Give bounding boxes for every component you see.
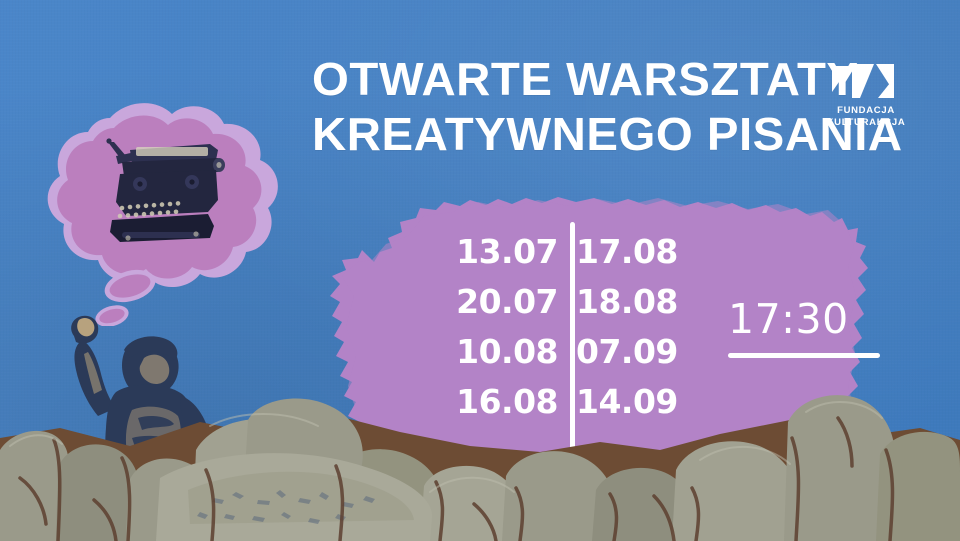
date-item: 13.07 — [430, 228, 558, 276]
sculptor-and-rocks-illustration — [0, 300, 960, 541]
logo-text-line-2: KULTURAKCJA — [826, 117, 906, 129]
kulturakcja-logo-mark-icon — [830, 58, 902, 98]
vintage-typewriter-icon — [106, 138, 225, 242]
poster-headline: OTWARTE WARSZTATY KREATYWNEGO PISANIA — [312, 52, 903, 162]
date-item: 17.08 — [576, 228, 686, 276]
logo-text-line-1: FUNDACJA — [826, 105, 906, 117]
headline-line-2: KREATYWNEGO PISANIA — [312, 107, 903, 162]
organizer-logo: FUNDACJA KULTURAKCJA — [826, 58, 906, 129]
thought-bubble — [22, 96, 290, 326]
poster-canvas: OTWARTE WARSZTATY KREATYWNEGO PISANIA FU… — [0, 0, 960, 541]
headline-line-1: OTWARTE WARSZTATY — [312, 52, 903, 107]
